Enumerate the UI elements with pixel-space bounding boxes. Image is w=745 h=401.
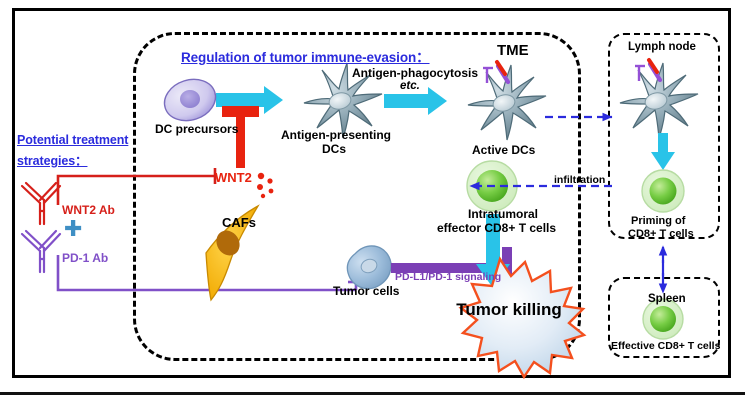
infiltration-label: infiltration [554, 174, 605, 186]
lymph-node-region-box [608, 33, 720, 239]
intratumoral-tcell-label-line1: Intratumoral [468, 207, 538, 221]
bottom-rule [0, 392, 745, 395]
cafs-label: CAFs [222, 215, 256, 230]
lymph-node-label: Lymph node [628, 41, 696, 53]
pd1-ab-label: PD-1 Ab [62, 251, 108, 265]
treatment-heading-line1: Potential treatment [17, 133, 128, 147]
tme-title: Regulation of tumor immune-evasion： [181, 46, 430, 66]
pdl1-pd1-signaling-label: PD-L1/PD-1 signaling [395, 271, 501, 283]
antigen-phagocytosis-label: Antigen-phagocytosis [352, 66, 478, 80]
priming-label-line2: CD8+ T cells [628, 228, 694, 240]
dc-precursors-label: DC precursors [155, 122, 238, 136]
antigen-presenting-dcs-label-line1: Antigen-presenting [281, 128, 391, 142]
effective-cd8-label: Effective CD8+ T cells [611, 340, 720, 352]
priming-label-line1: Priming of [631, 215, 685, 227]
active-dcs-label: Active DCs [472, 143, 535, 157]
intratumoral-tcell-label-line2: effector CD8+ T cells [437, 221, 556, 235]
tme-label: TME [497, 42, 529, 59]
tumor-killing-label: Tumor killing [434, 300, 584, 320]
tumor-cells-label: Tumor cells [333, 284, 399, 298]
wnt2-ab-label: WNT2 Ab [62, 203, 115, 217]
figure-root: Regulation of tumor immune-evasion： TME … [0, 0, 745, 401]
treatment-heading-line2: strategies： [17, 150, 87, 169]
plus-icon: ✚ [64, 216, 82, 242]
wnt2-label: WNT2 [215, 170, 252, 185]
etc-label: etc. [400, 80, 420, 92]
spleen-label: Spleen [648, 293, 686, 305]
antigen-presenting-dcs-label-line2: DCs [322, 142, 346, 156]
